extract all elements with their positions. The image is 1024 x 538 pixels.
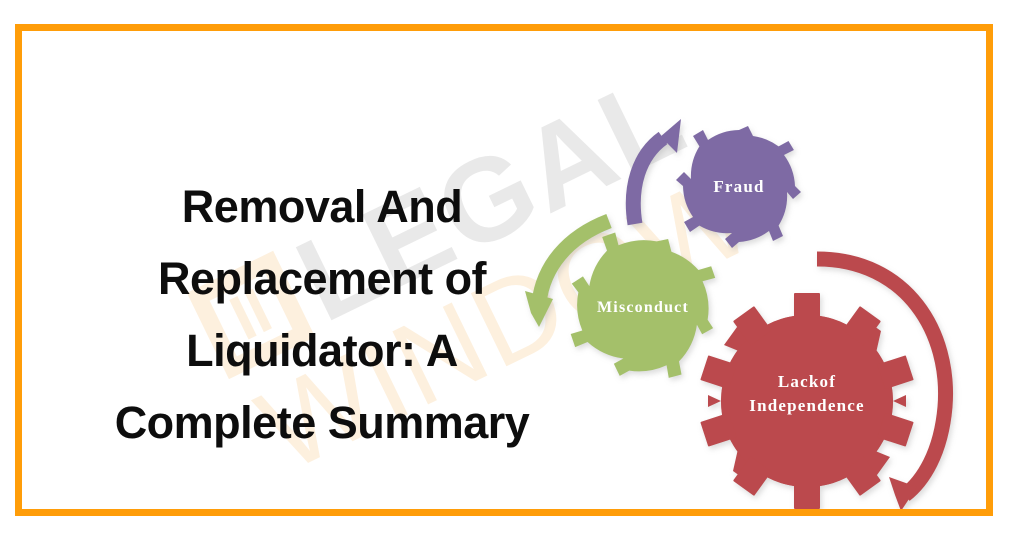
poster-inner-area: LEGAL WINDOW Removal And Replacement of … [22,31,986,509]
gear-lack-of-independence: Lackof Independence [700,293,913,509]
gear-diagram: Fraud Misconduct [517,91,977,509]
gear-independence-label-line1: Lackof [778,372,836,391]
gear-misconduct: Misconduct [555,221,729,392]
purple-arrow-icon [633,119,681,224]
gear-fraud-label: Fraud [713,177,764,196]
poster-canvas: LEGAL WINDOW Removal And Replacement of … [0,0,1024,538]
page-title: Removal And Replacement of Liquidator: A… [82,171,562,459]
gear-misconduct-label: Misconduct [597,299,689,316]
gear-fraud: Fraud [676,126,801,248]
gear-independence-label-line2: Independence [749,396,864,415]
